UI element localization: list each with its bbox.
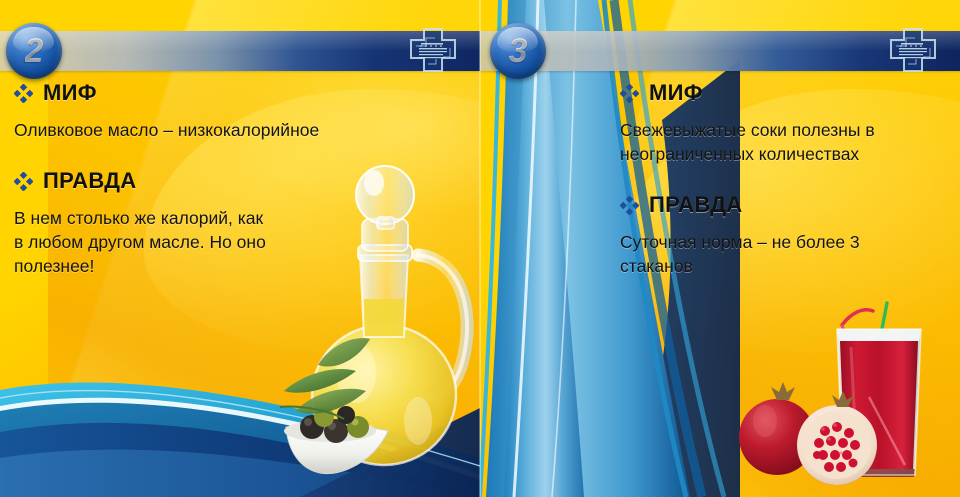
myth-heading: МИФ — [43, 80, 97, 106]
myth-text: Оливковое масло – низкокалорийное — [14, 118, 414, 142]
slide-3: 3 — [480, 0, 960, 497]
medical-cross-logo — [888, 26, 938, 74]
diamond-cluster-icon — [620, 84, 639, 103]
medical-cross-logo — [408, 26, 458, 74]
slide-2: 2 — [0, 0, 480, 497]
truth-heading: ПРАВДА — [43, 168, 136, 194]
truth-heading-row: ПРАВДА — [620, 192, 950, 218]
slide-content: МИФ Свежевыжатые соки полезны в неограни… — [620, 80, 950, 279]
truth-heading-row: ПРАВДА — [14, 168, 414, 194]
myth-heading: МИФ — [649, 80, 703, 106]
slides-canvas: 2 — [0, 0, 960, 497]
slide-number-badge: 3 — [490, 23, 546, 79]
truth-heading: ПРАВДА — [649, 192, 742, 218]
myth-heading-row: МИФ — [620, 80, 950, 106]
slide-divider — [479, 0, 481, 497]
slide-number-badge: 2 — [6, 23, 62, 79]
slide-number-label: 2 — [25, 34, 44, 68]
myth-heading-row: МИФ — [14, 80, 414, 106]
spacer — [14, 142, 414, 168]
slide-content: МИФ Оливковое масло – низкокалорийное — [14, 80, 414, 279]
slide-number-label: 3 — [509, 34, 528, 68]
diamond-cluster-icon — [14, 84, 33, 103]
diamond-cluster-icon — [14, 172, 33, 191]
spacer — [620, 166, 950, 192]
bottom-wave-decoration — [0, 362, 480, 497]
truth-text: В нем столько же калорий, как в любом др… — [14, 206, 272, 278]
myth-text: Свежевыжатые соки полезны в неограниченн… — [620, 118, 925, 166]
diamond-cluster-icon — [620, 196, 639, 215]
truth-text: Суточная норма – не более 3 стаканов — [620, 230, 890, 278]
